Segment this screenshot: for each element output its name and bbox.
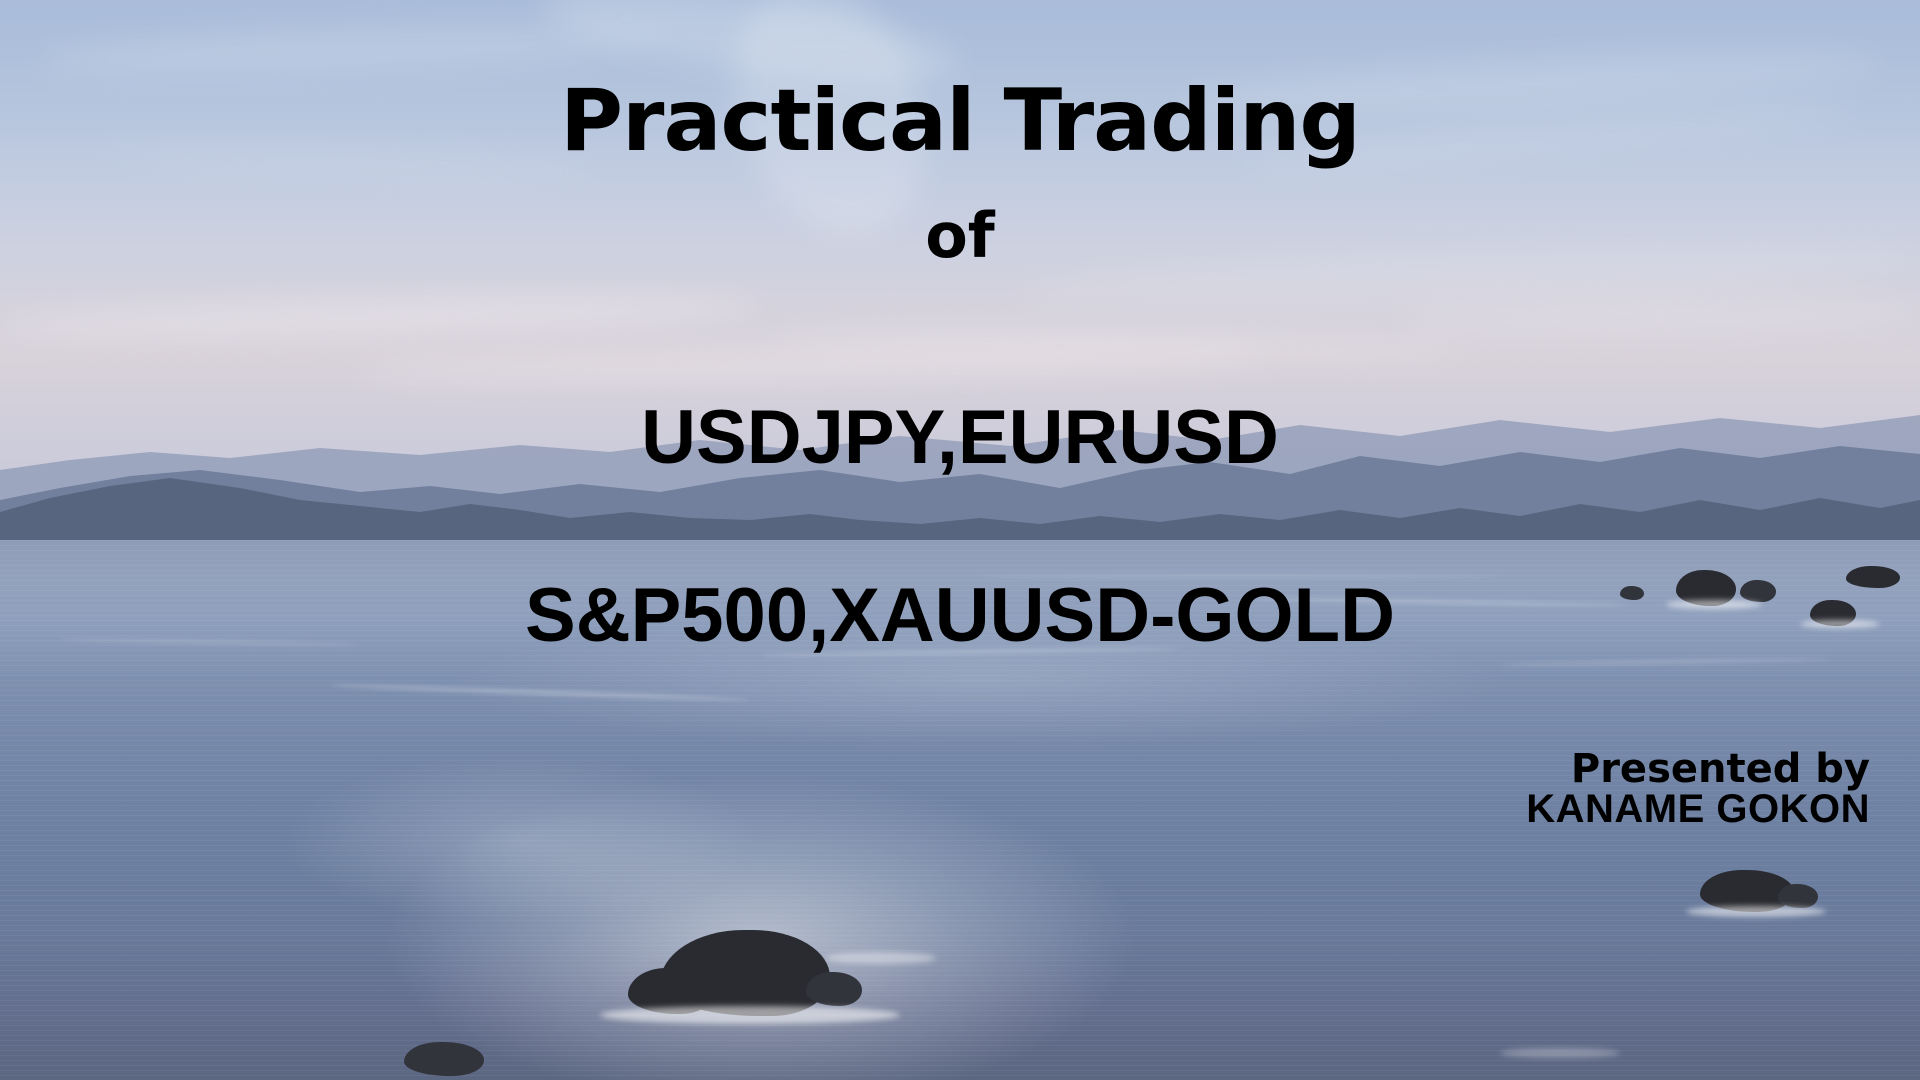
instrument-line-2: S&P500,XAUUSD-GOLD bbox=[0, 578, 1920, 654]
title-slide: Practical Trading of USDJPY,EURUSD S&P50… bbox=[0, 0, 1920, 1080]
presented-by-label: Presented by bbox=[1571, 746, 1870, 792]
page-title: Practical Trading bbox=[0, 78, 1920, 164]
slide-text-layer: Practical Trading of USDJPY,EURUSD S&P50… bbox=[0, 0, 1920, 1080]
presenter-name: KANAME GOKON bbox=[1526, 787, 1870, 831]
presenter-block: Presented by KANAME GOKON bbox=[0, 749, 1920, 829]
title-connector: of bbox=[0, 205, 1920, 267]
instrument-line-1: USDJPY,EURUSD bbox=[0, 400, 1920, 476]
